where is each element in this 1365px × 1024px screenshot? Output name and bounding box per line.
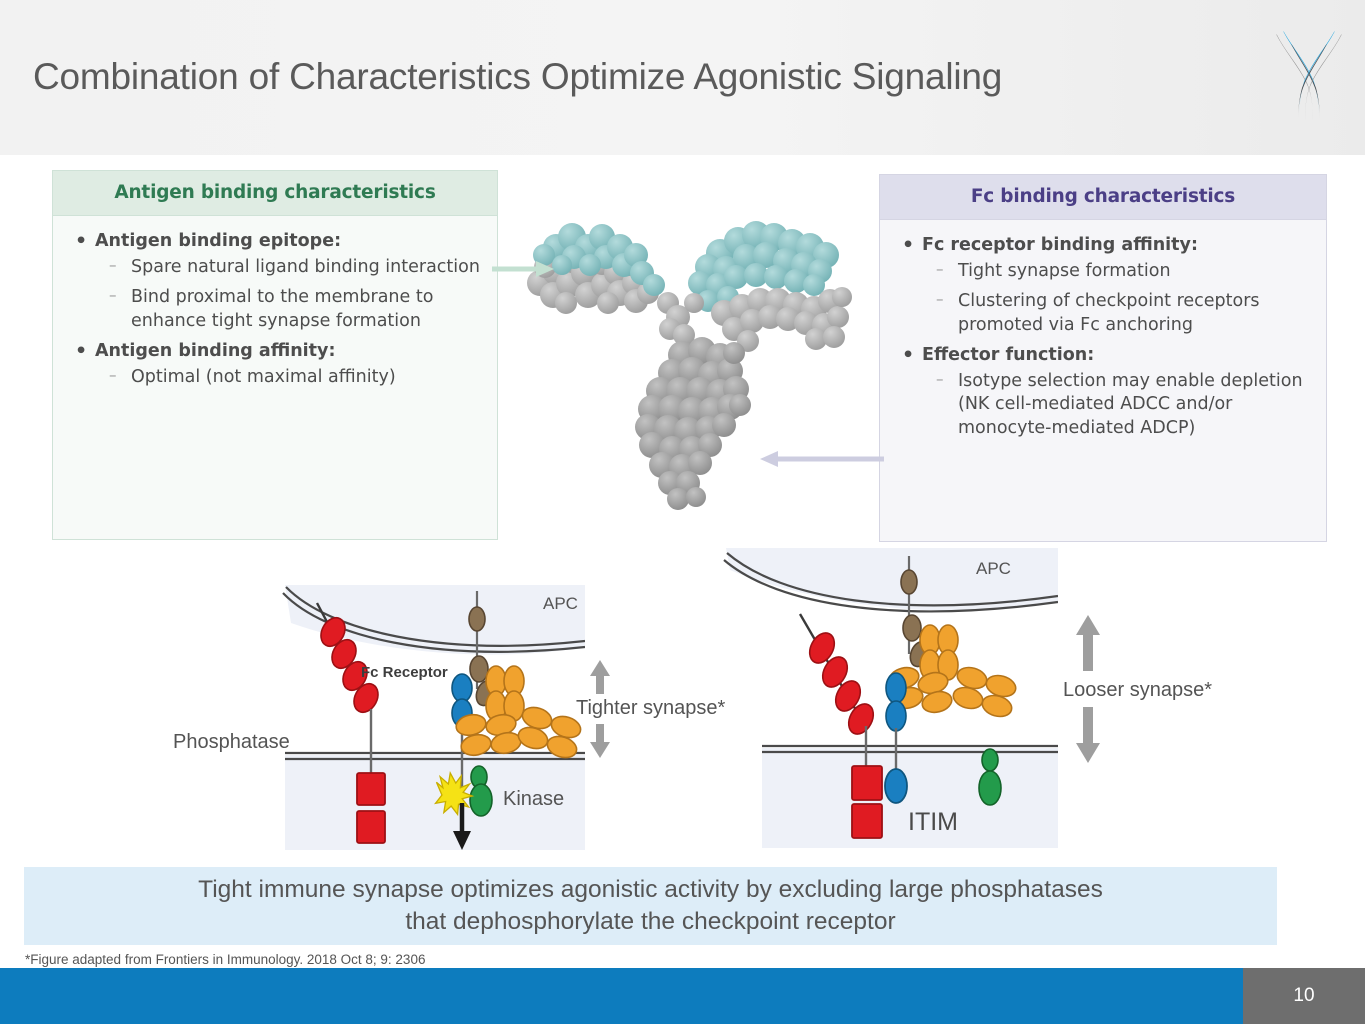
svg-text:APC: APC <box>976 559 1011 578</box>
caption-line-2: that dephosphorylate the checkpoint rece… <box>198 906 1103 938</box>
bullet-label: Fc receptor binding affinity: <box>922 235 1198 255</box>
svg-text:Fc Receptor: Fc Receptor <box>361 664 448 681</box>
fc-binding-characteristics-box: Fc binding characteristics Fc receptor b… <box>879 174 1327 542</box>
arrow-to-antibody-from-right-icon <box>756 448 884 470</box>
bullet-label: Antigen binding affinity: <box>95 341 335 361</box>
right-box-header: Fc binding characteristics <box>880 175 1326 220</box>
list-item: Tight synapse formation <box>922 260 1314 283</box>
list-item: Antigen binding affinity: Optimal (not m… <box>65 340 485 389</box>
list-item: Effector function: Isotype selection may… <box>892 344 1314 440</box>
list-item: Bind proximal to the membrane to enhance… <box>95 286 485 333</box>
list-item: Clustering of checkpoint receptors promo… <box>922 290 1314 337</box>
antibody-space-filling-model <box>512 205 878 530</box>
caption-line-1: Tight immune synapse optimizes agonistic… <box>198 874 1103 906</box>
company-y-logo <box>1268 20 1350 125</box>
list-item: Isotype selection may enable depletion (… <box>922 370 1314 440</box>
page-number: 10 <box>1243 968 1365 1024</box>
looser-synapse-gap-arrows-icon <box>1072 615 1104 763</box>
bullet-label: Antigen binding epitope: <box>95 231 341 251</box>
svg-text:ITIM: ITIM <box>908 808 958 836</box>
page-title: Combination of Characteristics Optimize … <box>33 56 1243 98</box>
figure-source-footnote: *Figure adapted from Frontiers in Immuno… <box>25 952 425 967</box>
phosphatase-label: Phosphatase <box>173 731 290 754</box>
list-item: Optimal (not maximal affinity) <box>95 366 485 389</box>
list-item: Fc receptor binding affinity: Tight syna… <box>892 234 1314 337</box>
arrow-to-antibody-from-left-icon <box>492 258 558 280</box>
list-item: Antigen binding epitope: Spare natural l… <box>65 230 485 333</box>
bottom-accent-bar <box>0 968 1243 1024</box>
loose-synapse-panel: APC ITIM <box>718 548 1058 848</box>
summary-caption-box: Tight immune synapse optimizes agonistic… <box>24 867 1277 945</box>
left-box-body: Antigen binding epitope: Spare natural l… <box>53 216 497 406</box>
summary-caption-text: Tight immune synapse optimizes agonistic… <box>198 874 1103 939</box>
slide-canvas: Combination of Characteristics Optimize … <box>0 0 1365 1024</box>
svg-text:APC: APC <box>543 594 578 613</box>
antigen-binding-characteristics-box: Antigen binding characteristics Antigen … <box>52 170 498 540</box>
kinase-label: Kinase <box>503 788 564 811</box>
tighter-synapse-gap-arrows-icon <box>586 660 614 758</box>
list-item: Spare natural ligand binding interaction <box>95 256 485 279</box>
bullet-label: Effector function: <box>922 345 1094 365</box>
right-box-body: Fc receptor binding affinity: Tight syna… <box>880 220 1326 457</box>
left-box-header: Antigen binding characteristics <box>53 171 497 216</box>
